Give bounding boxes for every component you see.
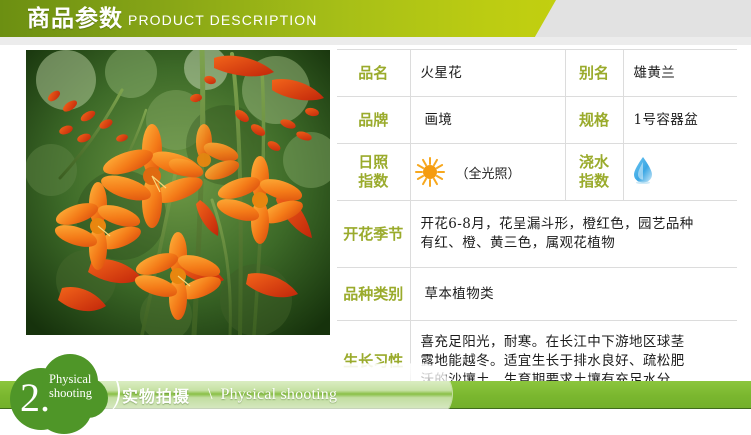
section-number-badge: 2. Physical shooting [6,352,124,435]
spec-value-product-name: 火星花 [410,50,565,97]
spec-label-specification: 规格 [565,97,623,144]
footer-section-label: 实物拍摄 \ Physical shooting [122,383,337,407]
page-title-english: PRODUCT DESCRIPTION [128,11,317,29]
spec-value-specification: 1号容器盆 [623,97,737,144]
crocosmia-flower-illustration [26,50,330,335]
spec-label-sunlight-line2: 指数 [339,172,408,191]
spec-value-sunlight-index: （全光照） [410,144,565,201]
spec-label-bloom-season: 开花季节 [337,201,410,268]
header-underline [0,37,751,45]
footer-label-english: Physical shooting [220,386,337,404]
product-spec-table: 品名 火星花 别名 雄黄兰 品牌 画境 规格 1号容器盆 日照 指数 [337,49,737,402]
footer-label-chinese: 实物拍摄 [122,383,190,407]
spec-value-category: 草本植物类 [410,268,737,321]
growth-habit-line1: 喜充足阳光，耐寒。在长江中下游地区球茎 [421,333,738,352]
spec-value-bloom-season: 开花6-8月，花呈漏斗形，橙红色，园艺品种 有红、橙、黄三色，属观花植物 [410,201,737,268]
table-row-bloom-season: 开花季节 开花6-8月，花呈漏斗形，橙红色，园艺品种 有红、橙、黄三色，属观花植… [337,201,737,268]
spec-label-product-name: 品名 [337,50,410,97]
spec-value-brand: 画境 [410,97,565,144]
footer-separator: \ [190,386,220,404]
spec-label-category: 品种类别 [337,268,410,321]
spec-label-sunlight-line1: 日照 [339,153,408,172]
product-photo [26,50,330,335]
table-row-indices: 日照 指数 [337,144,737,201]
spec-label-watering-index: 浇水 指数 [565,144,623,201]
spec-label-brand: 品牌 [337,97,410,144]
spec-label-sunlight-index: 日照 指数 [337,144,410,201]
table-row-category: 品种类别 草本植物类 [337,268,737,321]
spec-value-watering-index [623,144,737,201]
spec-label-watering-line2: 指数 [568,172,621,191]
spec-value-alias: 雄黄兰 [623,50,737,97]
footer-section-banner: 实物拍摄 \ Physical shooting 2. Physical sho… [0,352,751,435]
badge-swoosh-arc [92,370,120,414]
page-title-chinese: 商品参数 [27,4,123,34]
badge-number: 2. [20,378,50,418]
sun-icon [415,157,445,187]
spec-label-alias: 别名 [565,50,623,97]
spec-label-watering-line1: 浇水 [568,153,621,172]
table-row-brand: 品牌 画境 规格 1号容器盆 [337,97,737,144]
table-row-name: 品名 火星花 别名 雄黄兰 [337,50,737,97]
bloom-season-line2: 有红、橙、黄三色，属观花植物 [421,234,738,253]
water-drop-icon [632,156,654,184]
bloom-season-line1: 开花6-8月，花呈漏斗形，橙红色，园艺品种 [421,215,738,234]
spec-value-sunlight-text: （全光照） [456,163,521,182]
